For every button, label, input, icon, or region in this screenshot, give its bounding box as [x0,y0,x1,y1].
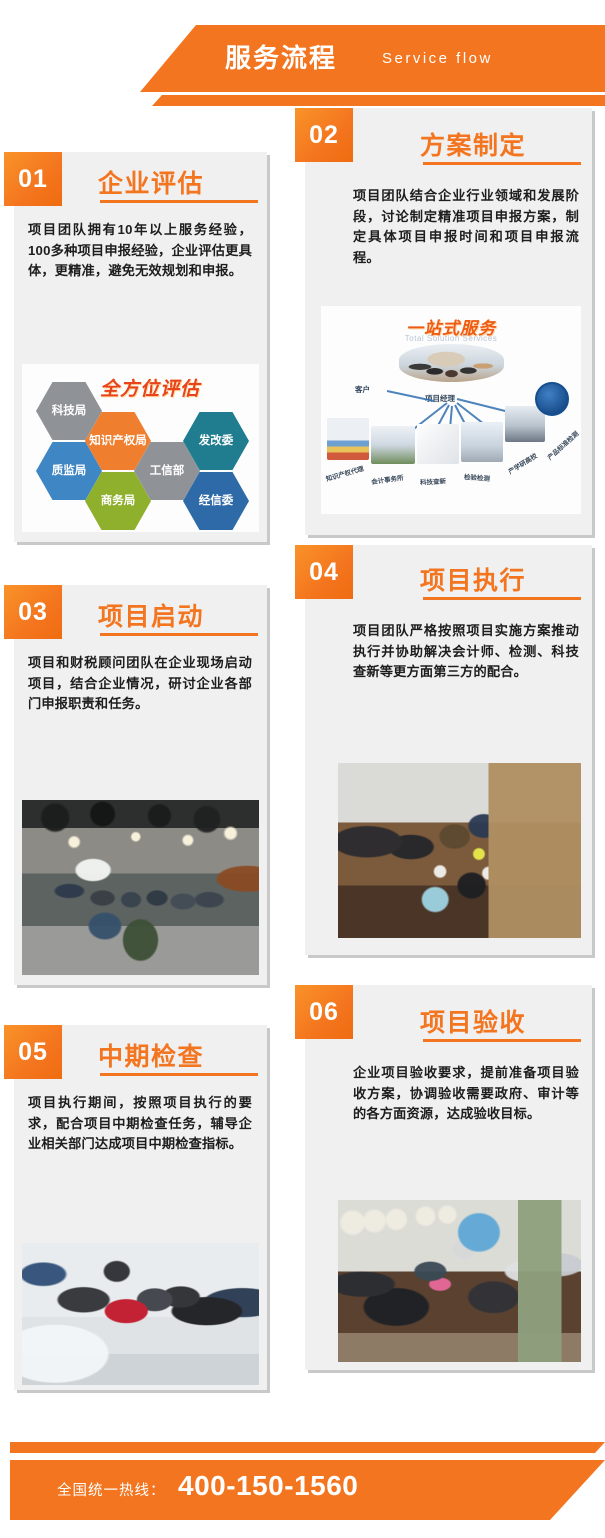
step-card-06: 06 项目验收 企业项目验收要求，提前准备项目验收方案，协调验收需要政府、审计等… [305,985,592,1370]
oss-branch-label-3: 检验检测 [464,471,491,483]
step-title-06: 项目验收 [420,1003,526,1039]
step-title-03: 项目启动 [98,597,204,633]
photo-onsite-showroom-inspection [22,1243,259,1385]
step-body-03: 项目和财税顾问团队在企业现场启动项目，结合企业情况，研讨企业各部门申报职责和任务… [28,653,252,715]
oss-certification-seal [535,382,569,416]
footer-accent-stripe [10,1442,605,1453]
step-body-04: 项目团队严格按照项目实施方案推动执行并协助解决会计师、检测、科技查新等更方面第三… [353,621,579,683]
step-number-badge-05: 05 [4,1025,62,1079]
step-body-06: 企业项目验收要求，提前准备项目验收方案，协调验收需要政府、审计等的各方面资源，达… [353,1063,579,1125]
title-underline-05 [100,1073,258,1076]
title-underline-02 [423,162,581,165]
step-title-04: 项目执行 [420,561,526,597]
step-number-badge-01: 01 [4,152,62,206]
step-title-05: 中期检查 [98,1037,204,1073]
step-number-badge-02: 02 [295,108,353,162]
oss-subtitle: Total Solution Services [321,334,581,343]
hex-diagram-title: 全方位评估 [100,374,200,401]
step-number-badge-06: 06 [295,985,353,1039]
header-banner-shape [140,25,605,92]
oss-branch-label-5: 产品标准检测 [545,428,581,462]
title-underline-06 [423,1039,581,1042]
step-title-02: 方案制定 [420,126,526,162]
page-header: 服务流程 Service flow [0,0,605,110]
oss-node-inspection [461,422,503,462]
oss-center-photo [399,344,504,382]
step-body-02: 项目团队结合企业行业领域和发展阶段，讨论制定精准项目申报方案，制定具体项目申报时… [353,186,579,268]
oss-node-industry-academy [505,406,545,442]
oss-label-customer: 客户 [355,384,370,395]
photo-boardroom-acceptance-review [338,1200,581,1362]
hotline-number[interactable]: 400-150-1560 [178,1470,358,1502]
step-number-badge-04: 04 [295,545,353,599]
oss-branch-label-1: 会计事务所 [370,472,404,486]
title-underline-01 [100,200,258,203]
photo-team-working-session-laptops [338,763,581,938]
one-stop-service-diagram: 一站式服务 Total Solution Services 客户 项目经理 [321,306,581,514]
oss-branch-label-4: 产学研高校 [506,450,539,476]
page-subtitle: Service flow [382,48,493,70]
oss-branch-label-0: 知识产权代理 [324,463,364,483]
hotline-label: 全国统一热线： [57,1479,166,1500]
page-title: 服务流程 [225,38,337,78]
oss-node-tech-search [417,424,459,464]
step-title-01: 企业评估 [98,164,204,200]
photo-conference-room-kickoff-meeting [22,800,259,975]
step-card-05: 05 中期检查 项目执行期间，按照项目执行的要求，配合项目中期检查任务，辅导企业… [14,1025,267,1390]
step-card-02: 02 方案制定 项目团队结合企业行业领域和发展阶段，讨论制定精准项目申报方案，制… [305,108,592,535]
step-body-05: 项目执行期间，按照项目执行的要求，配合项目中期检查任务，辅导企业相关部门达成项目… [28,1093,252,1155]
title-underline-03 [100,633,258,636]
oss-node-accounting [371,426,415,464]
oss-node-ip-agency [327,418,369,460]
step-card-03: 03 项目启动 项目和财税顾问团队在企业现场启动项目，结合企业情况，研讨企业各部… [14,585,267,985]
page-footer: 全国统一热线： 400-150-1560 [0,1422,605,1538]
step-card-01: 01 企业评估 项目团队拥有10年以上服务经验，100多种项目申报经验，企业评估… [14,152,267,542]
step-card-04: 04 项目执行 项目团队严格按照项目实施方案推动执行并协助解决会计师、检测、科技… [305,545,592,955]
oss-branch-label-2: 科技查新 [420,475,446,486]
title-underline-04 [423,597,581,600]
service-flow-infographic: 服务流程 Service flow 01 企业评估 项目团队拥有10年以上服务经… [0,0,605,1538]
assessment-hex-diagram: 全方位评估 科技局 知识产权局 质监局 商务局 工信部 发改委 经信委 [22,364,259,532]
step-number-badge-03: 03 [4,585,62,639]
header-accent-stripe [152,95,605,106]
step-body-01: 项目团队拥有10年以上服务经验，100多种项目申报经验，企业评估更具体，更精准，… [28,220,252,282]
